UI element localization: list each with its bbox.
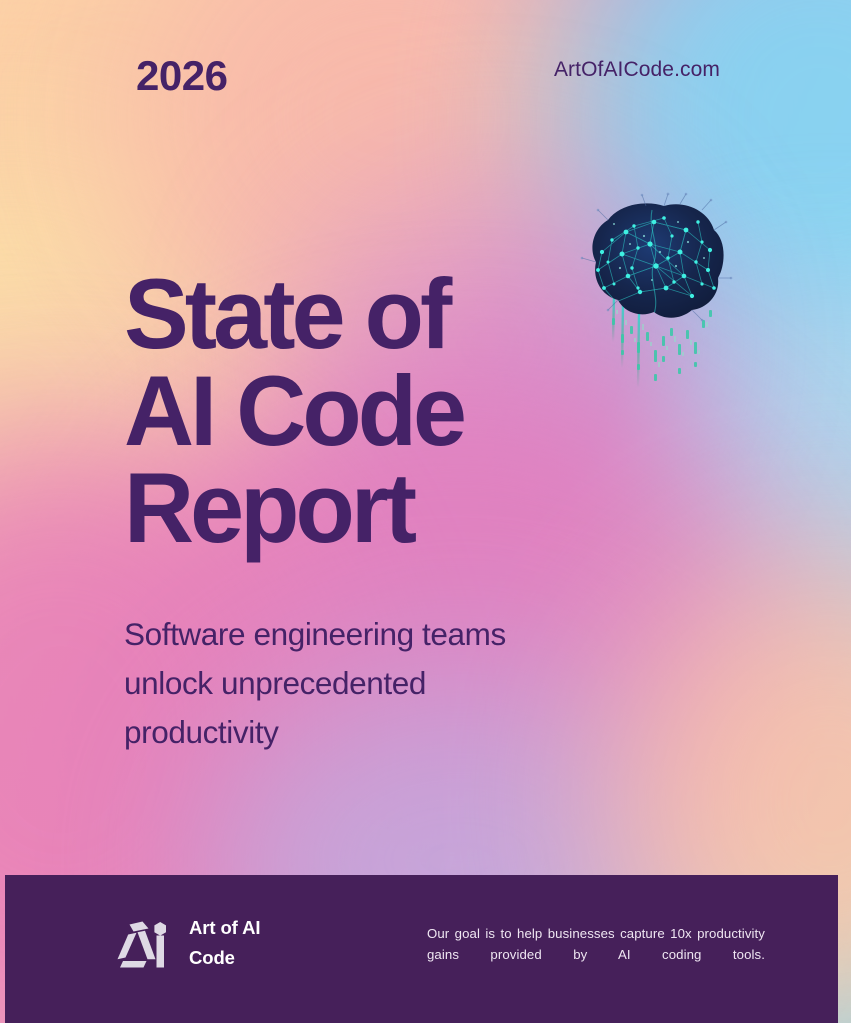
footer-bar: Art of AI Code Our goal is to help busin…	[5, 875, 838, 1023]
website-url[interactable]: ArtOfAICode.com	[554, 59, 720, 80]
report-cover-page: 2026 ArtOfAICode.com State of AI Code Re…	[0, 0, 851, 1023]
page-subtitle: Software engineering teams unlock unprec…	[124, 610, 654, 757]
brand-name: Art of AI Code	[189, 913, 260, 973]
ai-monogram-icon	[115, 916, 171, 970]
digital-brain-icon	[568, 192, 736, 418]
brand-lockup[interactable]: Art of AI Code	[115, 913, 260, 973]
page-title: State of AI Code Report	[124, 265, 536, 556]
cover-year: 2026	[136, 55, 227, 97]
footer-mission-statement: Our goal is to help businesses capture 1…	[427, 923, 765, 987]
